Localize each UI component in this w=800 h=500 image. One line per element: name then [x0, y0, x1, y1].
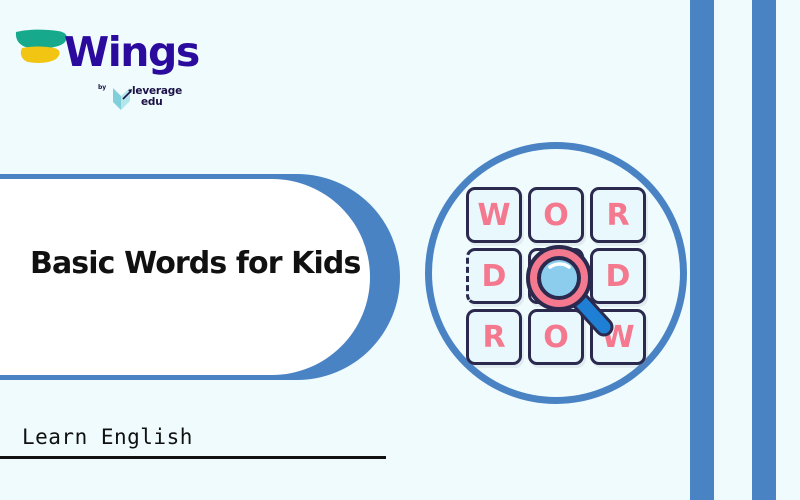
footer-divider	[0, 456, 386, 459]
word-grid-tile[interactable]: O	[528, 187, 584, 243]
brand-sub-line2: edu	[132, 97, 182, 108]
brand-sub-text: leverage edu	[132, 86, 182, 108]
slide-canvas: Wings by leverage edu Basic Words for Ki…	[0, 0, 800, 500]
word-grid-tile[interactable]: D	[466, 248, 522, 304]
brand-logo[interactable]: Wings by leverage edu	[14, 22, 214, 112]
word-grid-tile[interactable]: R	[590, 187, 646, 243]
leverage-edu-book-icon	[110, 86, 134, 112]
word-grid-tile[interactable]: W	[466, 187, 522, 243]
decor-vertical-bar-1	[690, 0, 714, 500]
brand-by-label: by	[98, 84, 106, 91]
footer-label: Learn English	[22, 425, 193, 449]
decor-vertical-bar-2	[752, 0, 776, 500]
magnifying-glass-icon	[524, 243, 620, 343]
brand-wordmark: Wings	[64, 32, 199, 73]
word-grid-tile[interactable]: R	[466, 309, 522, 365]
page-title: Basic Words for Kids	[30, 247, 370, 280]
